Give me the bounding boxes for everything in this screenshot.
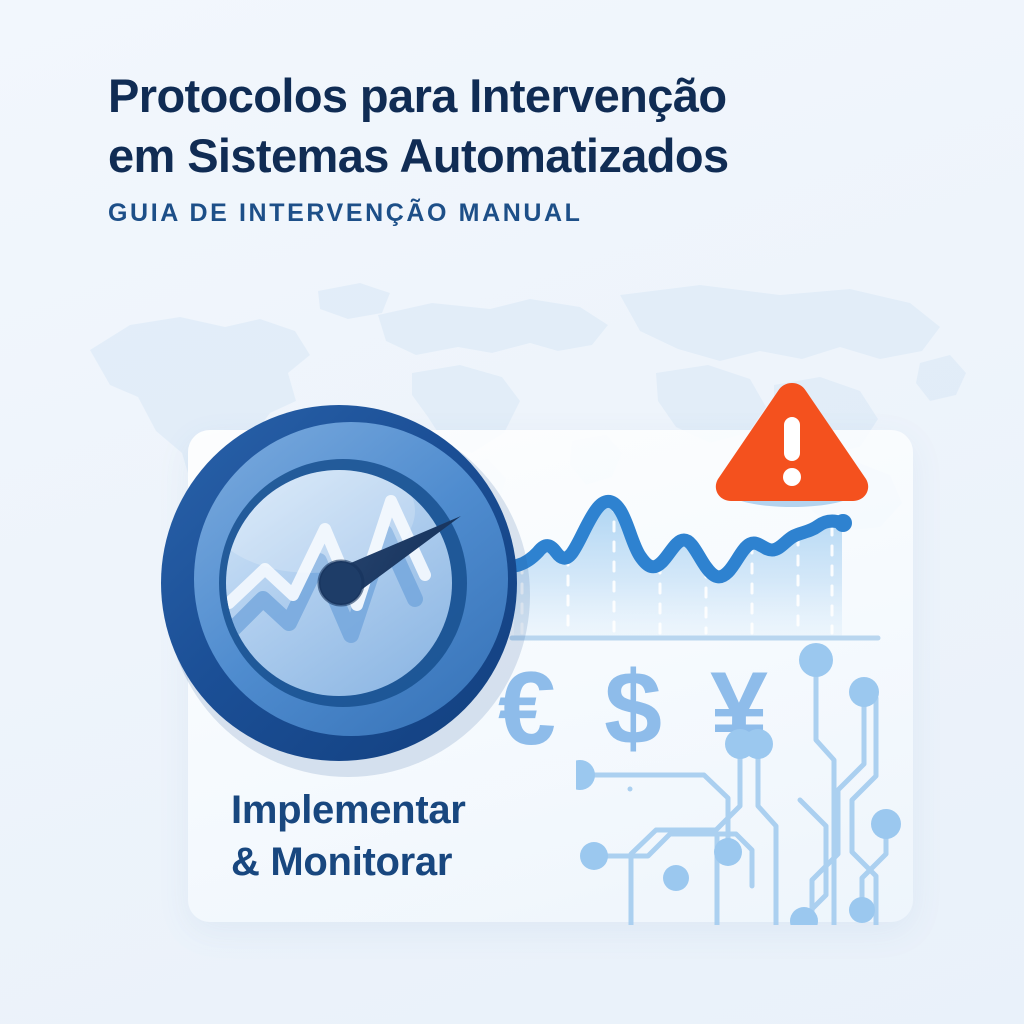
- performance-gauge: [143, 383, 543, 783]
- header: Protocolos para Intervenção em Sistemas …: [108, 66, 938, 228]
- alert-triangle-icon: [706, 375, 878, 510]
- warning-exclamation-bar: [784, 417, 800, 461]
- page-subtitle: GUIA DE INTERVENÇÃO MANUAL: [108, 199, 938, 228]
- poster-canvas: Protocolos para Intervenção em Sistemas …: [0, 0, 1024, 1024]
- chart-area-fill: [514, 501, 842, 636]
- page-title: Protocolos para Intervenção em Sistemas …: [108, 66, 938, 186]
- chart-endpoint-marker: [834, 514, 852, 532]
- warning-exclamation-dot: [783, 468, 801, 486]
- cta-caption: Implementar & Monitorar: [231, 784, 651, 888]
